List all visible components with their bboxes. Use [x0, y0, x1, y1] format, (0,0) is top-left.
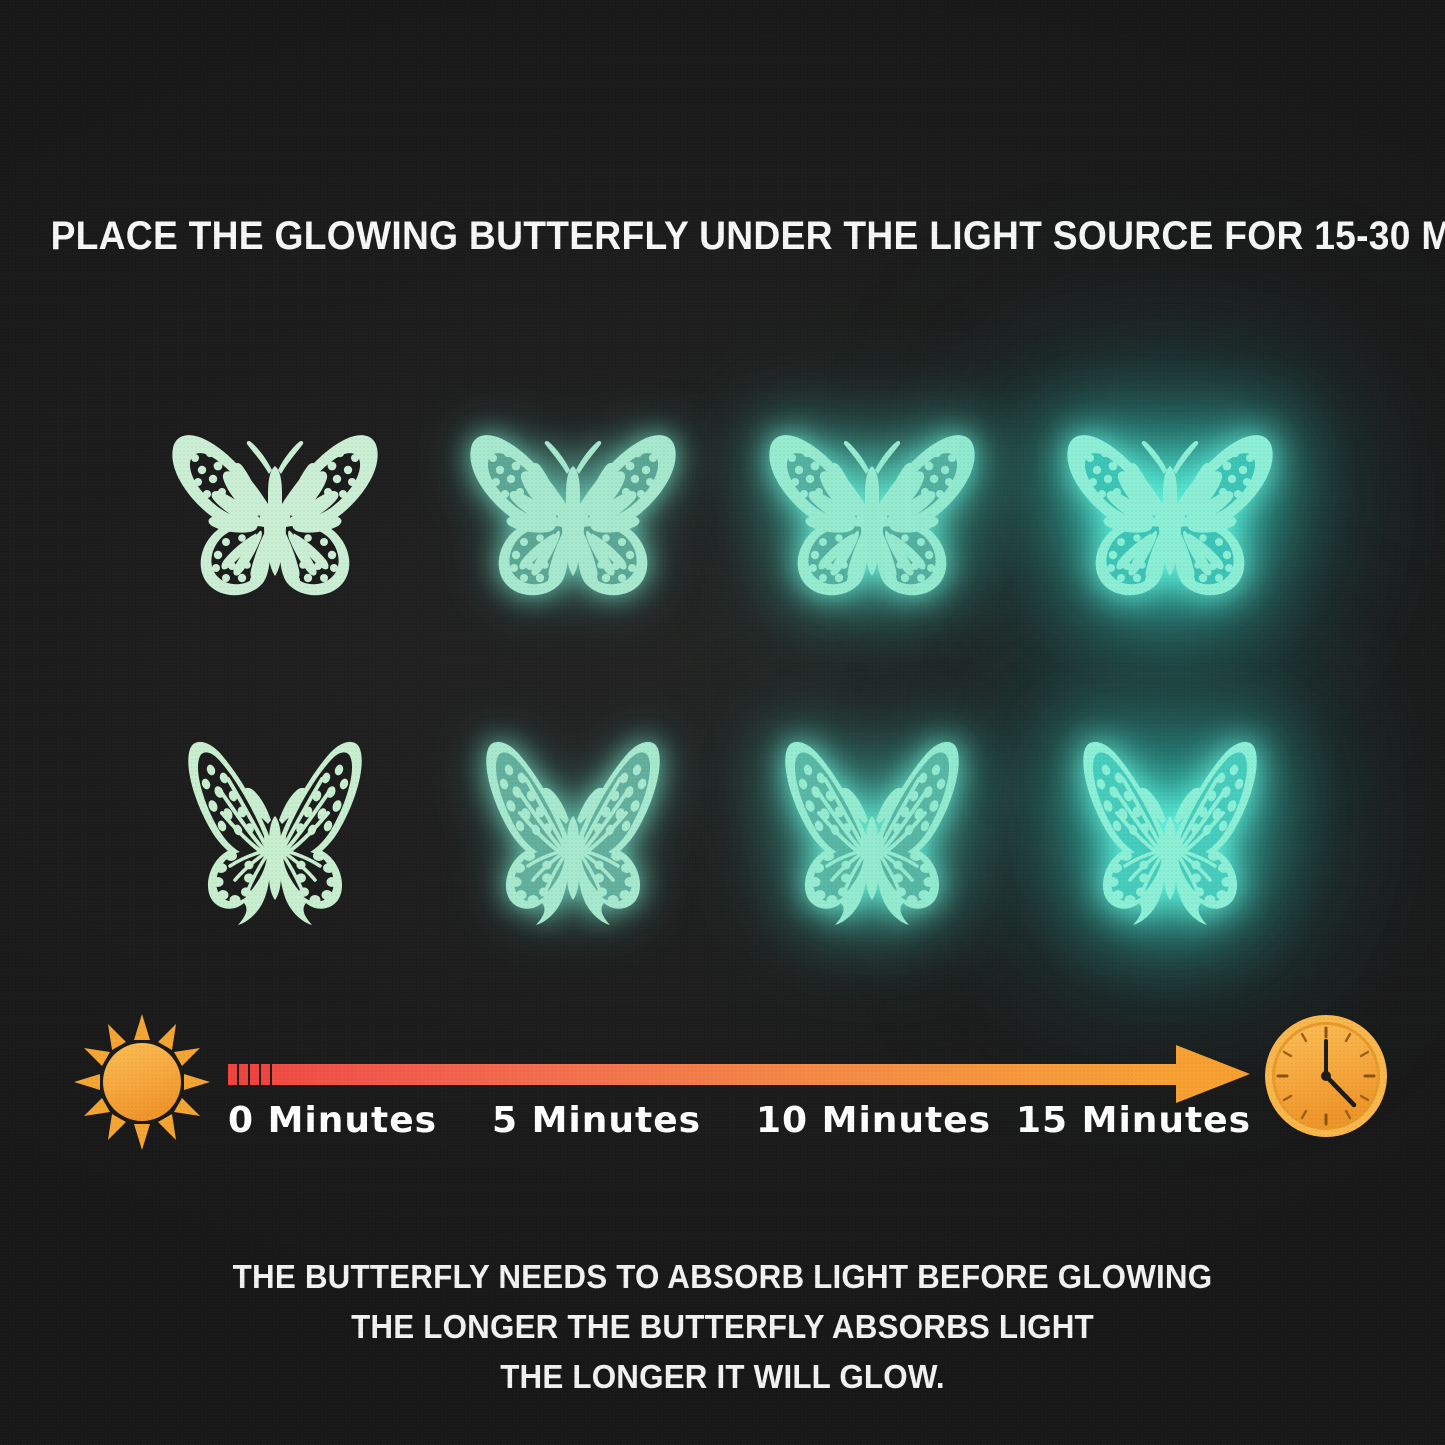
butterfly-swallowtail-stage-1: [448, 720, 698, 935]
butterfly-monarch-stage-2: [747, 408, 997, 623]
monarch-butterfly-icon: [747, 408, 997, 623]
footer-text: THE BUTTERFLY NEEDS TO ABSORB LIGHT BEFO…: [0, 1252, 1445, 1402]
butterfly-monarch-stage-3: [1045, 408, 1295, 623]
arrow-head-icon: [1176, 1045, 1250, 1103]
tick-label-15: 15 Minutes: [1016, 1100, 1251, 1141]
swallowtail-butterfly-icon: [1045, 720, 1295, 935]
swallowtail-butterfly-icon: [150, 720, 400, 935]
swallowtail-butterfly-icon: [747, 720, 997, 935]
page-title: Instructions For Use: [353, 52, 1092, 141]
tick-label-5: 5 Minutes: [492, 1100, 701, 1141]
swallowtail-butterfly-icon: [448, 720, 698, 935]
footer-line-1: THE BUTTERFLY NEEDS TO ABSORB LIGHT BEFO…: [36, 1252, 1409, 1302]
tick-label-0: 0 Minutes: [228, 1100, 437, 1141]
tick-label-10: 10 Minutes: [756, 1100, 991, 1141]
subtitle-instruction: PLACE THE GLOWING BUTTERFLY UNDER THE LI…: [51, 214, 1395, 259]
footer-line-2: THE LONGER THE BUTTERFLY ABSORBS LIGHT: [36, 1302, 1409, 1352]
butterfly-swallowtail-stage-3: [1045, 720, 1295, 935]
monarch-butterfly-icon: [150, 408, 400, 623]
butterfly-swallowtail-stage-2: [747, 720, 997, 935]
timeline-arrow: [228, 1045, 1250, 1103]
monarch-butterfly-icon: [448, 408, 698, 623]
butterfly-swallowtail-stage-0: [150, 720, 400, 935]
timeline-start-dashes: [228, 1064, 272, 1085]
instruction-poster: Instructions For Use PLACE THE GLOWING B…: [0, 0, 1445, 1445]
butterfly-row-monarch: [150, 400, 1295, 630]
timeline-tick-labels: 0 Minutes 5 Minutes 10 Minutes 15 Minute…: [0, 1100, 1445, 1160]
butterfly-monarch-stage-1: [448, 408, 698, 623]
monarch-butterfly-icon: [1045, 408, 1295, 623]
butterfly-monarch-stage-0: [150, 408, 400, 623]
title-container: Instructions For Use: [0, 52, 1445, 141]
butterfly-row-swallowtail: [150, 712, 1295, 942]
footer-line-3: THE LONGER IT WILL GLOW.: [36, 1352, 1409, 1402]
timeline-bar: [228, 1064, 1180, 1085]
